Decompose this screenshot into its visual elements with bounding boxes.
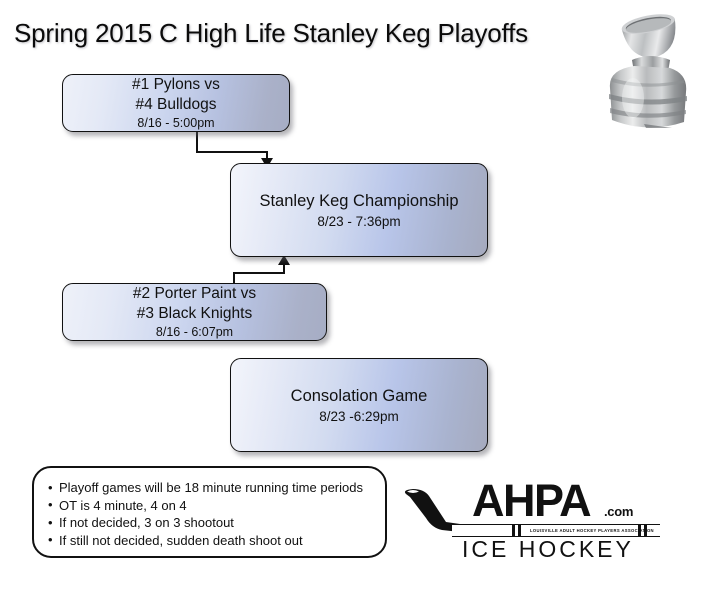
bracket-box-semifinal-2[interactable]: #2 Porter Paint vs #3 Black Knights 8/16… <box>62 283 327 341</box>
shaft-tape <box>512 525 515 536</box>
page-title: Spring 2015 C High Life Stanley Keg Play… <box>14 18 528 49</box>
bracket-box-semifinal-1[interactable]: #1 Pylons vs #4 Bulldogs 8/16 - 5:00pm <box>62 74 290 132</box>
bracket-box-consolation[interactable]: Consolation Game 8/23 -6:29pm <box>230 358 488 452</box>
semifinal-1-team-a: #1 Pylons vs <box>132 75 220 95</box>
consolation-title: Consolation Game <box>291 385 428 407</box>
logo-dotcom: .com <box>604 504 633 519</box>
connector-semifinal1-vertical <box>196 131 198 153</box>
connector-semifinal2-horizontal <box>233 272 285 274</box>
rule-item: If still not decided, sudden death shoot… <box>48 532 385 550</box>
semifinal-1-time: 8/16 - 5:00pm <box>137 115 214 132</box>
championship-time: 8/23 - 7:36pm <box>317 212 400 231</box>
semifinal-2-team-a: #2 Porter Paint vs <box>133 284 256 304</box>
connector-semifinal2-rise <box>283 264 285 274</box>
rules-box: Playoff games will be 18 minute running … <box>32 466 387 558</box>
consolation-time: 8/23 -6:29pm <box>319 407 399 426</box>
logo-wordmark: AHPA <box>472 478 590 523</box>
logo-subtitle: ICE HOCKEY <box>462 536 634 563</box>
rule-item: If not decided, 3 on 3 shootout <box>48 514 385 532</box>
shaft-tape <box>518 525 521 536</box>
logo-banner-text: LOUISVILLE ADULT HOCKEY PLAYERS ASSOCIAT… <box>530 527 654 535</box>
bracket-canvas: Spring 2015 C High Life Stanley Keg Play… <box>0 0 706 595</box>
championship-title: Stanley Keg Championship <box>259 190 458 212</box>
rule-item: OT is 4 minute, 4 on 4 <box>48 497 385 515</box>
lahpa-logo: AHPA .com LOUISVILLE ADULT HOCKEY PLAYER… <box>398 478 660 558</box>
stanley-keg-trophy-image <box>588 2 700 128</box>
rule-item: Playoff games will be 18 minute running … <box>48 479 385 497</box>
semifinal-2-team-b: #3 Black Knights <box>137 304 252 324</box>
semifinal-2-time: 8/16 - 6:07pm <box>156 324 233 341</box>
semifinal-1-team-b: #4 Bulldogs <box>135 95 216 115</box>
connector-semifinal1-horizontal <box>196 151 268 153</box>
bracket-box-championship[interactable]: Stanley Keg Championship 8/23 - 7:36pm <box>230 163 488 257</box>
